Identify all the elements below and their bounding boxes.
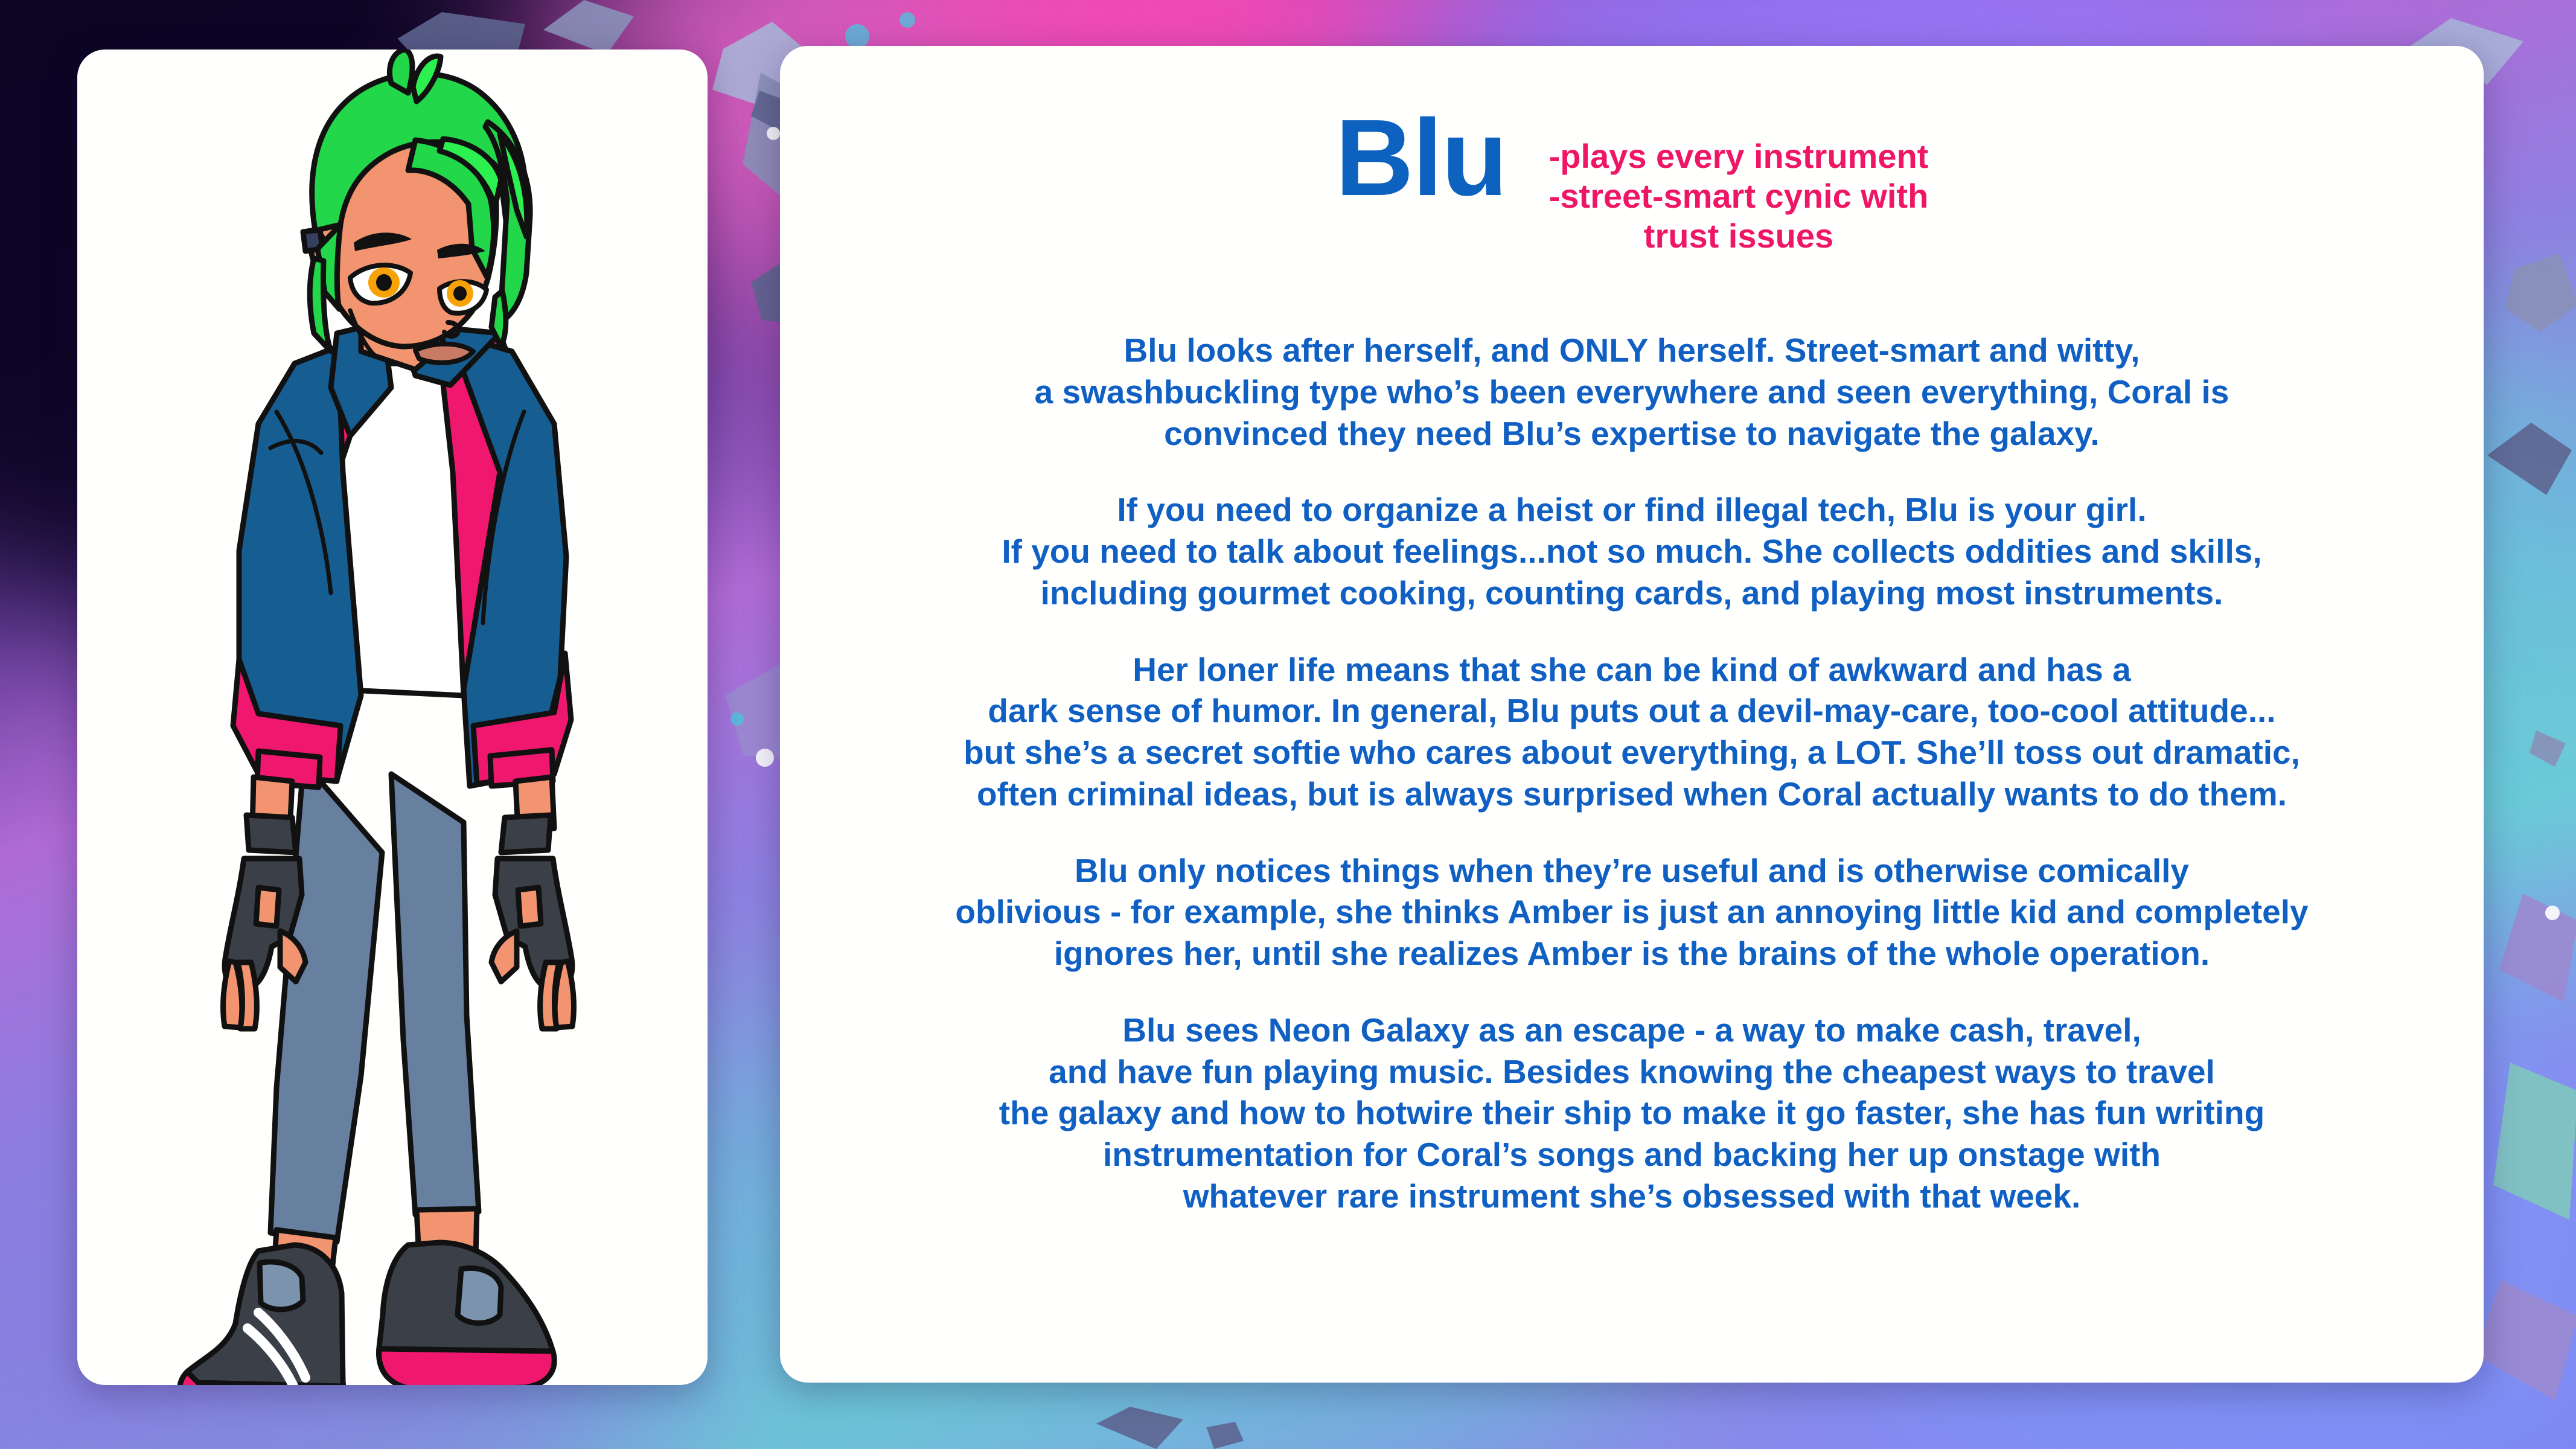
character-traits-list: -plays every instrument -street-smart cy… — [1549, 136, 1929, 256]
character-bio-card: Blu -plays every instrument -street-smar… — [780, 46, 2484, 1383]
star-dot — [845, 24, 869, 48]
bio-paragraph: Blu only notices things when they’re use… — [780, 850, 2484, 974]
bio-paragraph: Blu looks after herself, and ONLY hersel… — [780, 330, 2484, 454]
bio-paragraph: Her loner life means that she can be kin… — [780, 649, 2484, 815]
bio-header: Blu -plays every instrument -street-smar… — [780, 106, 2484, 256]
star-dot — [2545, 906, 2560, 920]
star-dot — [730, 712, 744, 726]
star-dot — [900, 12, 915, 28]
star-dot — [767, 127, 780, 140]
star-dot — [756, 749, 774, 767]
bio-paragraph: Blu sees Neon Galaxy as an escape - a wa… — [780, 1009, 2484, 1217]
bio-paragraph: If you need to organize a heist or find … — [780, 489, 2484, 613]
character-bio-text: Blu looks after herself, and ONLY hersel… — [780, 330, 2484, 1217]
character-art-card — [77, 50, 708, 1385]
page-title: Blu — [1335, 106, 1507, 210]
character-illustration-blu — [77, 50, 708, 1385]
